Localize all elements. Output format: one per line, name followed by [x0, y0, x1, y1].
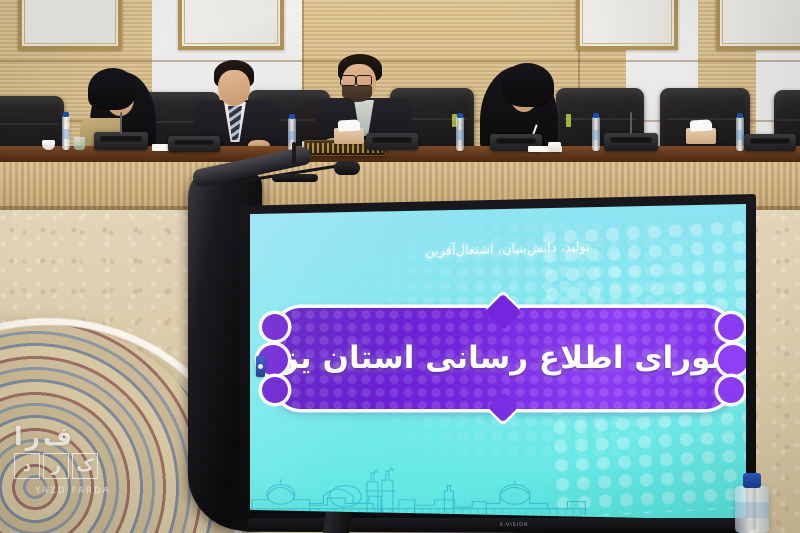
power-indicator-icon — [256, 356, 265, 377]
water-bottle-5[interactable] — [736, 117, 744, 151]
slide-title: شورای اطلاع رسانی استان یزد — [275, 307, 731, 408]
water-bottle-4[interactable] — [592, 117, 600, 151]
boom-microphone-head-icon — [334, 161, 360, 175]
tea-glass-1[interactable] — [74, 137, 85, 150]
microphone-unit-5[interactable] — [604, 133, 658, 151]
boom-base — [272, 174, 318, 182]
wall-picture-frame-4 — [716, 0, 800, 50]
wall-picture-frame-2 — [178, 0, 284, 50]
television-display[interactable]: تولید، دانش‌بنیان، اشتغال‌آفرین شورای اط… — [196, 160, 756, 532]
banner-lobe-right-bottom-icon — [718, 377, 744, 403]
yazd-city-skyline-icon — [250, 464, 587, 518]
wall-picture-frame-1 — [18, 0, 122, 50]
water-bottle-1[interactable] — [62, 116, 70, 150]
tv-screen-content[interactable]: تولید، دانش‌بنیان، اشتغال‌آفرین شورای اط… — [250, 204, 746, 520]
banner-lobe-left-top-icon — [262, 314, 288, 340]
attendee-2-face — [218, 70, 250, 106]
water-bottle-3[interactable] — [456, 117, 464, 151]
photograph-scene: تولید، دانش‌بنیان، اشتغال‌آفرین شورای اط… — [0, 0, 800, 533]
banner-lobe-left-bottom-icon — [262, 377, 288, 403]
microphone-boom-stand[interactable] — [238, 160, 356, 190]
attendee-3-glasses-right — [356, 75, 372, 86]
microphone-unit-1[interactable] — [94, 132, 148, 150]
attendee-3-glasses-left — [340, 75, 356, 86]
chair-tag-4 — [566, 114, 571, 127]
tv-stand — [322, 512, 352, 533]
attendee-4-headscarf — [502, 63, 554, 107]
wall-picture-frame-3 — [576, 0, 678, 50]
tissue-box-2[interactable] — [686, 128, 716, 144]
attendee-3-beard — [342, 86, 372, 102]
microphone-stem-1 — [120, 112, 122, 134]
banner-lobe-right-mid-icon — [718, 345, 746, 375]
boom-post — [292, 142, 296, 164]
microphone-stem-5 — [630, 112, 632, 134]
microphone-unit-3[interactable] — [366, 133, 418, 150]
microphone-unit-6[interactable] — [744, 134, 796, 151]
attendee-1-headscarf — [88, 68, 136, 110]
title-banner-plate: شورای اطلاع رسانی استان یزد — [275, 308, 731, 409]
tv-brand-logo: X-VISION — [488, 521, 540, 530]
microphone-unit-2[interactable] — [168, 136, 220, 152]
tissue-box-1[interactable] — [334, 128, 364, 144]
foreground-water-bottle[interactable] — [735, 486, 769, 533]
title-banner: شورای اطلاع رسانی استان یزد — [275, 308, 731, 409]
